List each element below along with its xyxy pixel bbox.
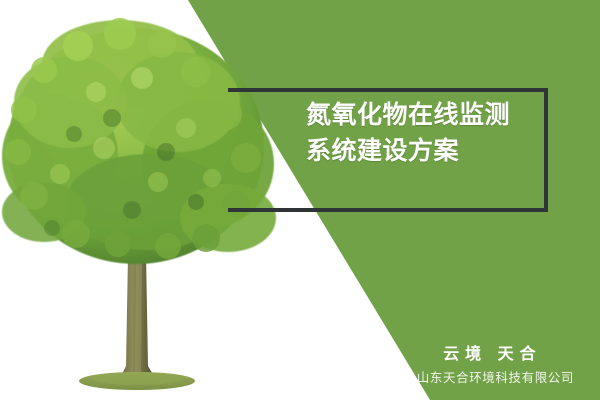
- slide-title-line-1: 氮氧化物在线监测: [306, 97, 556, 133]
- brand-block: 云境 天合 山东天合环境科技有限公司: [417, 344, 574, 388]
- brand-name: 云境 天合: [417, 344, 574, 366]
- green-angled-panel: [0, 0, 600, 400]
- slide-title-line-2: 系统建设方案: [306, 133, 556, 169]
- brand-company-name: 山东天合环境科技有限公司: [417, 368, 574, 388]
- cover-slide: 氮氧化物在线监测 系统建设方案 云境 天合 山东天合环境科技有限公司: [0, 0, 600, 400]
- slide-title: 氮氧化物在线监测 系统建设方案: [306, 97, 556, 169]
